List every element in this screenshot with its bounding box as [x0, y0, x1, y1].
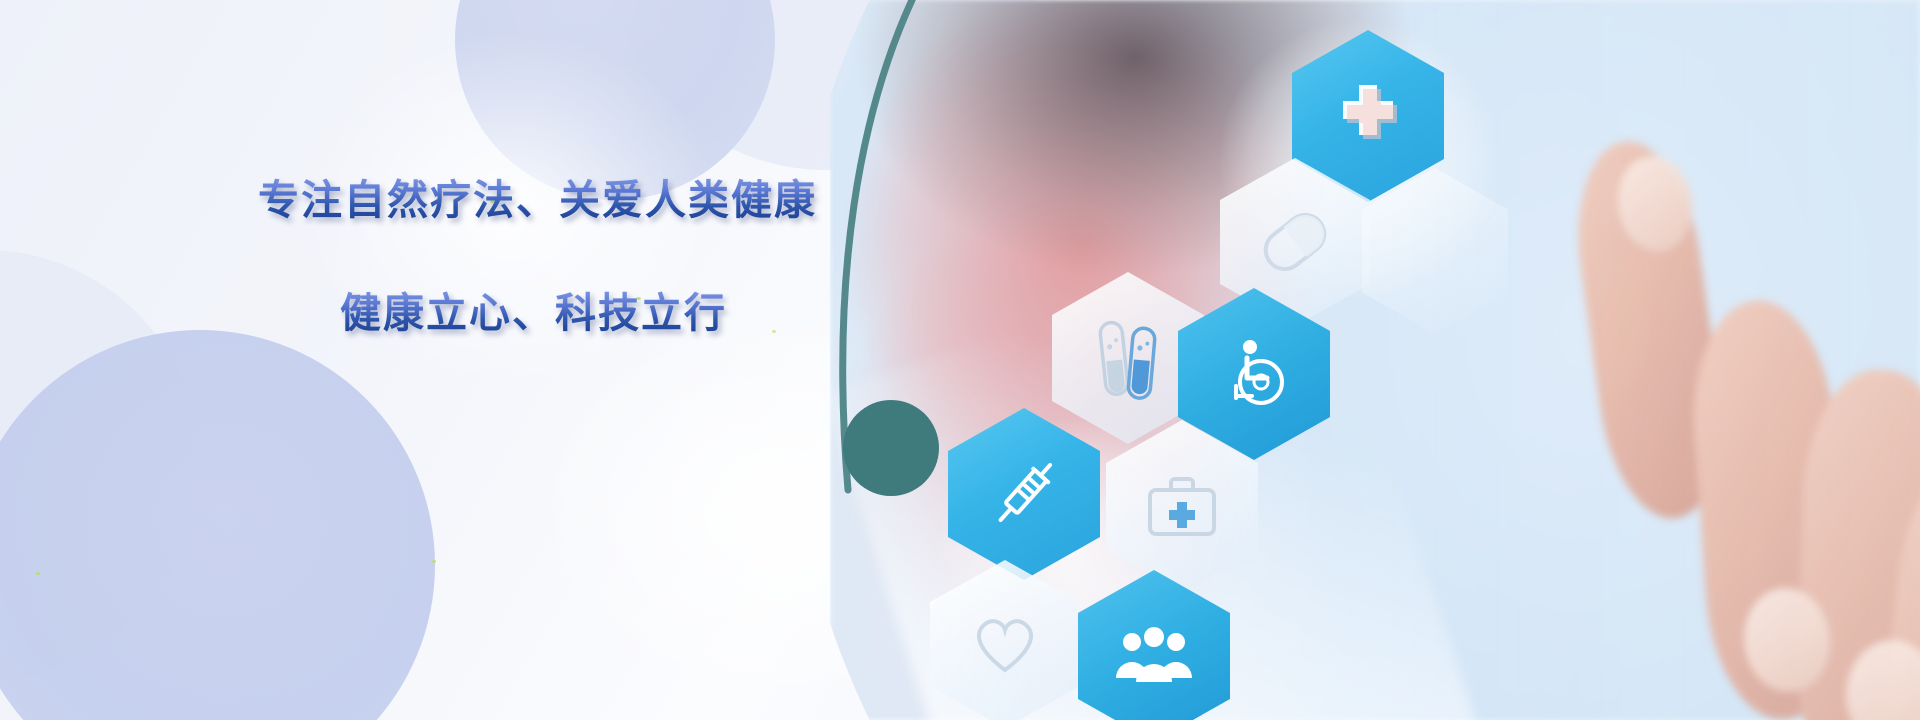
decorative-circle-bottom-left	[0, 330, 435, 720]
heart-icon[interactable]	[930, 560, 1080, 720]
decorative-circle-bottom-outer	[0, 250, 200, 680]
hero-banner: 专注自然疗法、关爱人类健康 健康立心、科技立行	[0, 0, 1920, 720]
hexagon-icon-cluster	[920, 0, 1540, 720]
headline-line-1: 专注自然疗法、关爱人类健康	[258, 178, 878, 223]
people-group-icon[interactable]	[1078, 570, 1230, 720]
headline-line-2: 健康立心、科技立行	[340, 291, 878, 336]
decorative-circle-top	[455, 0, 775, 200]
headline-block: 专注自然疗法、关爱人类健康 健康立心、科技立行	[258, 178, 878, 336]
sparkle-speck	[36, 572, 40, 575]
sparkle-speck	[432, 560, 436, 563]
syringe-icon[interactable]	[948, 408, 1100, 580]
